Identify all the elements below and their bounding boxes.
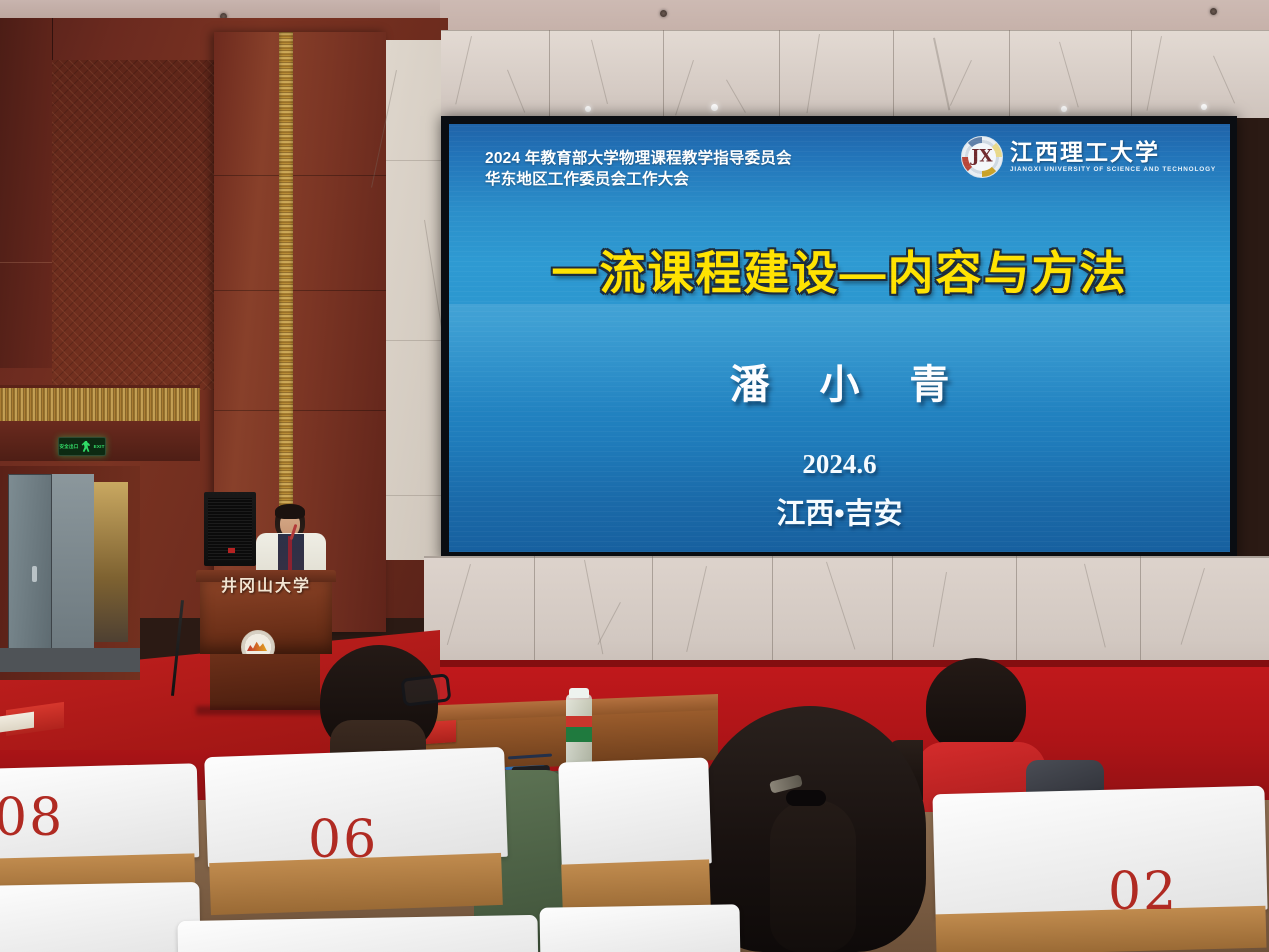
- ceiling-spotlight-icon: [660, 10, 667, 17]
- ceiling-spotlight-icon: [1210, 8, 1217, 15]
- presenter-lanyard: [288, 536, 292, 570]
- seat-number: 08: [0, 788, 64, 848]
- attendee-head-front-right: [926, 658, 1026, 754]
- door-threshold: [0, 648, 140, 672]
- chair-back-02: [936, 906, 1267, 952]
- column-seam: [214, 410, 386, 411]
- university-emblem-icon: JX: [961, 136, 1003, 178]
- wood-diamond-pattern-panel: [52, 60, 214, 390]
- wall-spotlight-icon: [585, 106, 591, 112]
- emblem-mark: JX: [971, 147, 992, 167]
- wall-spotlight-icon: [1061, 106, 1067, 112]
- chair-cover-front-right: [539, 904, 740, 952]
- wood-panel-left: [0, 18, 53, 368]
- slide-header-line2: 华东地区工作委员会工作大会: [485, 169, 689, 191]
- chair-cover-front-left: [0, 882, 201, 952]
- podium-institution-name: 井冈山大学: [200, 572, 332, 596]
- seat-number: 06: [308, 810, 378, 870]
- slide-date: 2024.6: [449, 449, 1230, 480]
- eyeglasses-icon: [400, 673, 451, 707]
- slide-location: 江西•吉安: [449, 490, 1230, 532]
- exit-label-en: EXIT: [94, 444, 105, 449]
- wall-spotlight-icon: [711, 104, 718, 111]
- seat-number: 02: [1108, 862, 1178, 922]
- emergency-exit-sign: 安全出口 EXIT: [58, 437, 106, 456]
- water-bottle-cap: [569, 688, 589, 698]
- slide-header-line1: 2024 年教育部大学物理课程教学指导委员会: [485, 148, 792, 170]
- slide-speaker-name: 潘 小 青: [449, 352, 1230, 410]
- column-seam: [214, 290, 386, 291]
- podium-base: [210, 654, 320, 710]
- chair-cover-02: [932, 786, 1267, 919]
- side-tile-wall: [386, 40, 448, 560]
- adjacent-room-view: [94, 482, 128, 642]
- university-name-en: JIANGXI UNIVERSITY OF SCIENCE AND TECHNO…: [1010, 167, 1216, 173]
- loudspeaker-led-icon: [228, 548, 235, 553]
- wood-panel-seam: [0, 262, 52, 263]
- running-person-icon: [81, 441, 92, 452]
- slide-title: 一流课程建设—内容与方法: [449, 237, 1230, 303]
- presenter-hair: [275, 504, 305, 519]
- wall-spotlight-icon: [1201, 104, 1207, 110]
- university-name-cn: 江西理工大学: [1010, 141, 1216, 164]
- column-seam: [214, 175, 386, 176]
- marble-wall-below-screen: [424, 556, 1269, 676]
- hair-tie: [786, 790, 826, 806]
- led-screen-presentation-slide[interactable]: JX 江西理工大学 JIANGXI UNIVERSITY OF SCIENCE …: [449, 124, 1230, 552]
- ponytail: [770, 800, 856, 952]
- doorway-opening: [50, 474, 94, 670]
- exit-label-cn: 安全出口: [59, 444, 78, 450]
- door-handle[interactable]: [32, 566, 37, 582]
- university-logo: JX 江西理工大学 JIANGXI UNIVERSITY OF SCIENCE …: [961, 136, 1216, 178]
- conference-hall-photo: JX 江西理工大学 JIANGXI UNIVERSITY OF SCIENCE …: [0, 0, 1269, 952]
- open-door[interactable]: [8, 474, 52, 672]
- chair-cover-mid: [558, 757, 712, 868]
- marble-wall-above-screen: [441, 30, 1269, 118]
- water-bottle-label: [566, 716, 592, 742]
- chair-cover-front-center: [178, 915, 539, 952]
